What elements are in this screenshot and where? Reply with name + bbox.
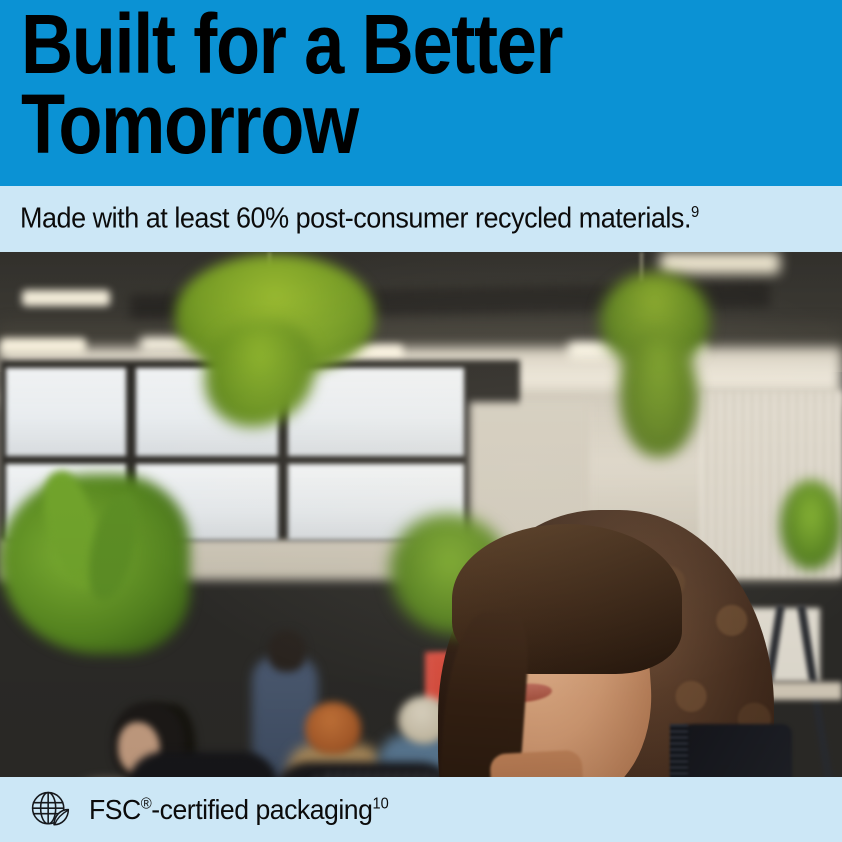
footer-label-rest: -certified packaging bbox=[151, 794, 372, 825]
marketing-card: Built for a Better Tomorrow Made with at… bbox=[0, 0, 842, 842]
background-person-head bbox=[268, 630, 306, 672]
subject-hair-side bbox=[433, 610, 532, 777]
desk-plant bbox=[780, 480, 842, 570]
ceiling-beam-secondary bbox=[0, 324, 842, 342]
registered-trademark-mark: ® bbox=[141, 795, 152, 812]
window-pane bbox=[6, 368, 126, 456]
window-pane bbox=[288, 368, 464, 456]
footer-content: FSC®-certified packaging10 bbox=[28, 788, 405, 832]
footer-band: FSC®-certified packaging10 bbox=[0, 777, 842, 842]
background-person-head bbox=[305, 702, 361, 754]
subtitle-text: Made with at least 60% post-consumer rec… bbox=[20, 203, 699, 236]
hanging-plant-trail bbox=[620, 332, 698, 457]
footer-label-fsc: FSC bbox=[89, 794, 141, 825]
header-band: Built for a Better Tomorrow bbox=[0, 0, 842, 186]
ceiling-light bbox=[0, 338, 86, 354]
subject-neck bbox=[489, 750, 586, 777]
hero-photo bbox=[0, 252, 842, 777]
office-chair bbox=[128, 752, 278, 777]
subtitle-band: Made with at least 60% post-consumer rec… bbox=[0, 186, 842, 252]
ceiling-light bbox=[660, 252, 780, 274]
footer-label: FSC®-certified packaging10 bbox=[89, 794, 389, 826]
globe-leaf-icon bbox=[28, 788, 72, 832]
subtitle-label: Made with at least 60% post-consumer rec… bbox=[20, 203, 691, 235]
subject-office-chair-edge bbox=[670, 724, 688, 777]
ceiling-light bbox=[22, 290, 110, 306]
page-title: Built for a Better Tomorrow bbox=[21, 5, 709, 165]
footer-footnote-marker: 10 bbox=[372, 795, 388, 812]
subject-office-chair bbox=[672, 724, 792, 777]
subtitle-footnote-marker: 9 bbox=[691, 204, 699, 221]
